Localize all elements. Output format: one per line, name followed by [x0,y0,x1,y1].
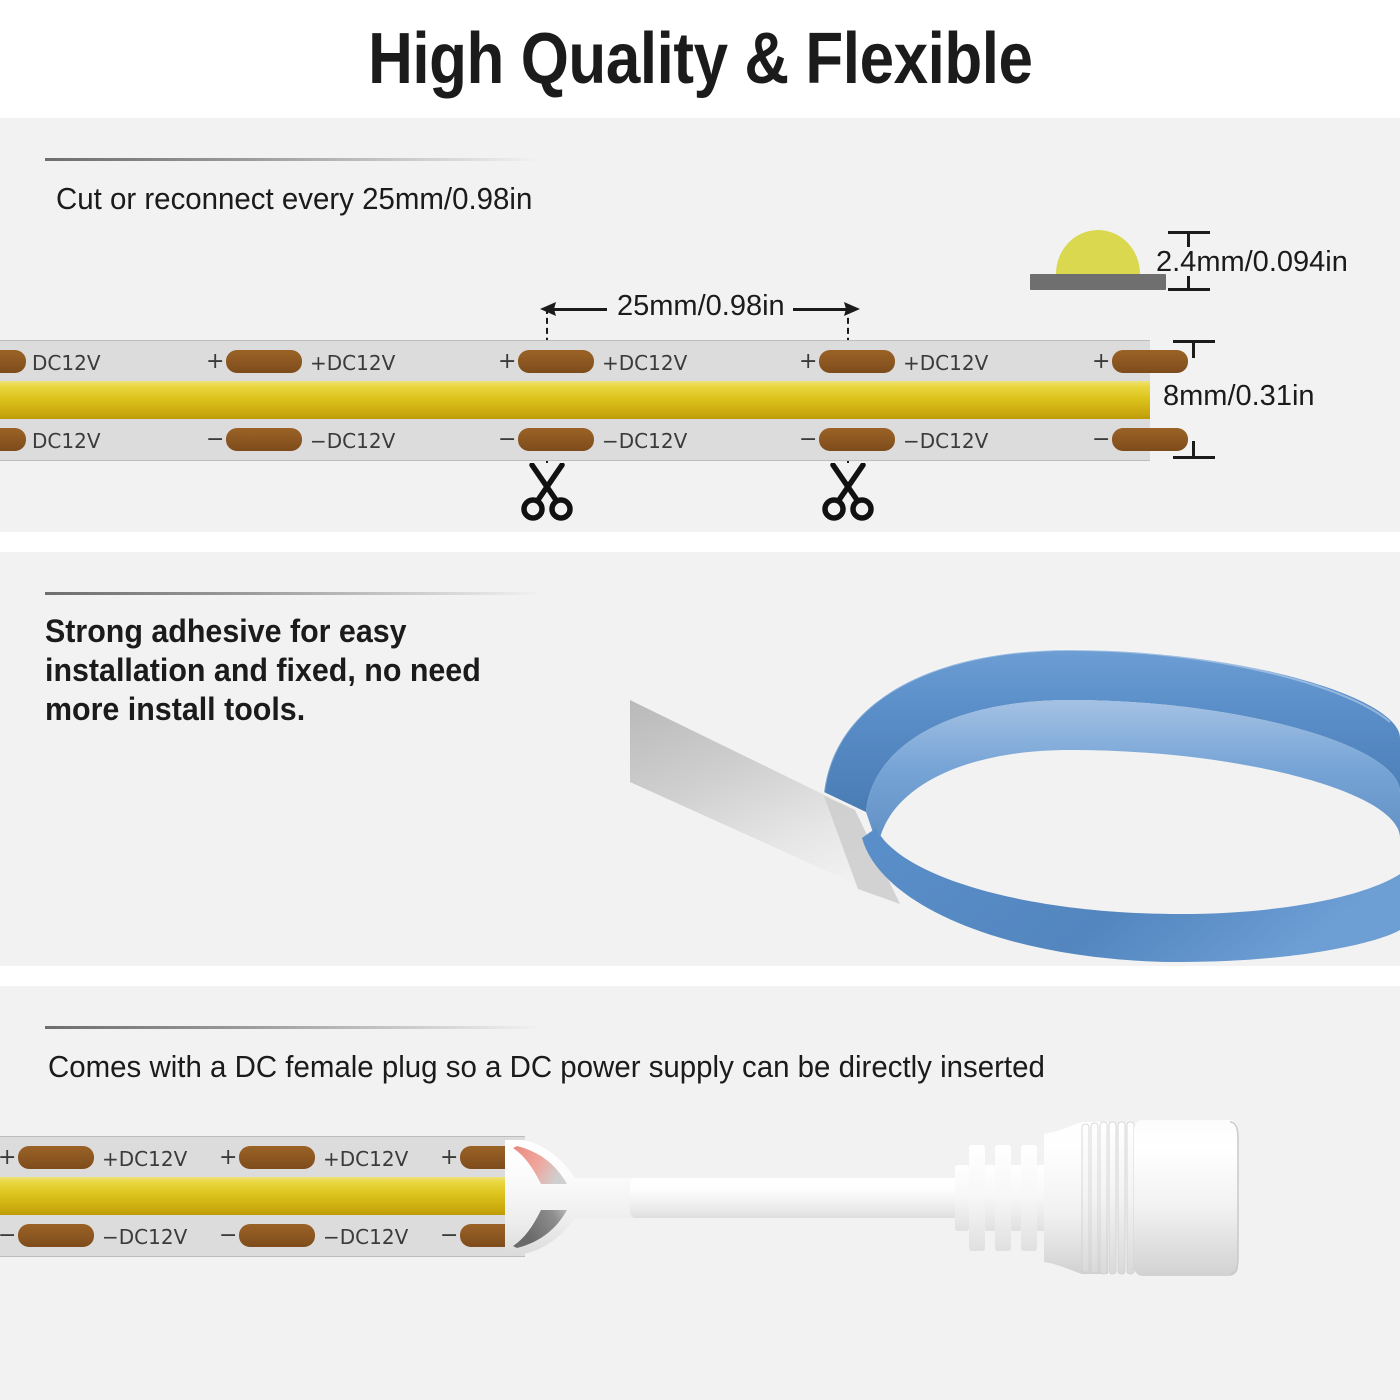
cut-pitch-dimension-label: 25mm/0.98in [617,290,785,323]
dc-cable [630,1178,975,1218]
strip-to-cable-transition [505,1134,635,1260]
pad-label-positive: +DC12V [903,353,988,373]
section-divider [45,158,540,161]
section-strong-adhesive: Strong adhesive for easy installation an… [0,552,1400,966]
strip-width-dimension-label: 8mm/0.31in [1163,380,1315,413]
pad-sign-negative: − [498,430,516,450]
dimension-arrow-left [540,299,562,319]
pad-sign-positive: + [799,352,817,372]
solder-pad-negative [0,428,26,451]
pad-sign-positive: + [219,1148,237,1168]
led-height-dimension-label: 2.4mm/0.094in [1156,246,1348,279]
strip-width-tick-bottom-stem [1192,441,1195,459]
pad-sign-negative: − [799,430,817,450]
section-heading-cut: Cut or reconnect every 25mm/0.98in [56,180,532,218]
pad-sign-negative: − [1092,430,1110,450]
pad-sign-positive: + [1092,352,1110,372]
pad-label-negative: DC12V [32,431,101,451]
dc-female-jack [1044,1120,1244,1276]
dimension-arrow-right [838,299,860,319]
solder-pad-negative [226,428,302,451]
dimension-tick-mid-upper [1187,231,1190,247]
solder-pad-positive [518,350,594,373]
pad-sign-negative: − [0,1226,16,1246]
solder-pad-positive [1112,350,1188,373]
led-dome-shape [1056,230,1140,274]
pad-label-positive: DC12V [32,353,101,373]
pad-sign-negative: − [440,1226,458,1246]
adhesive-tape-illustration [600,642,1400,966]
pad-label-negative: −DC12V [323,1227,408,1247]
pad-label-negative: −DC12V [903,431,988,451]
solder-pad-negative [1112,428,1188,451]
page-title: High Quality & Flexible [368,18,1032,100]
pad-sign-negative: − [206,430,224,450]
solder-pad-negative [18,1224,94,1247]
section-divider [45,592,540,595]
pad-label-negative: −DC12V [602,431,687,451]
section-heading-dc-plug: Comes with a DC female plug so a DC powe… [48,1048,1045,1086]
led-strip-graphic: DC12V DC12V + +DC12V − −DC12V + +DC12V −… [0,340,1150,461]
pad-label-negative: −DC12V [102,1227,187,1247]
solder-pad-positive [819,350,895,373]
pad-sign-positive: + [440,1148,458,1168]
pad-label-positive: +DC12V [323,1149,408,1169]
strip-phosphor-band [0,1177,525,1215]
pad-sign-positive: + [0,1148,16,1168]
led-strip-with-connector: + +DC12V − −DC12V + +DC12V − −DC12V + − [0,1136,525,1257]
strip-phosphor-band [0,381,1150,419]
solder-pad-negative [518,428,594,451]
section-cut-reconnect: Cut or reconnect every 25mm/0.98in 2.4mm… [0,118,1400,532]
solder-pad-negative [239,1224,315,1247]
scissors-icon [820,463,876,521]
pad-label-positive: +DC12V [102,1149,187,1169]
solder-pad-positive [239,1146,315,1169]
strip-width-tick-top-stem [1192,340,1195,358]
solder-pad-negative [819,428,895,451]
solder-pad-positive [0,350,26,373]
pad-sign-positive: + [498,352,516,372]
pad-label-positive: +DC12V [602,353,687,373]
solder-pad-positive [226,350,302,373]
section-dc-female-plug: Comes with a DC female plug so a DC powe… [0,986,1400,1400]
pad-sign-negative: − [219,1226,237,1246]
pad-label-positive: +DC12V [310,353,395,373]
led-base-shape [1030,274,1166,290]
section-divider [45,1026,540,1029]
pad-sign-positive: + [206,352,224,372]
section-heading-adhesive: Strong adhesive for easy installation an… [45,612,481,729]
solder-pad-positive [18,1146,94,1169]
scissors-icon [519,463,575,521]
page-header: High Quality & Flexible [0,0,1400,118]
pad-label-negative: −DC12V [310,431,395,451]
